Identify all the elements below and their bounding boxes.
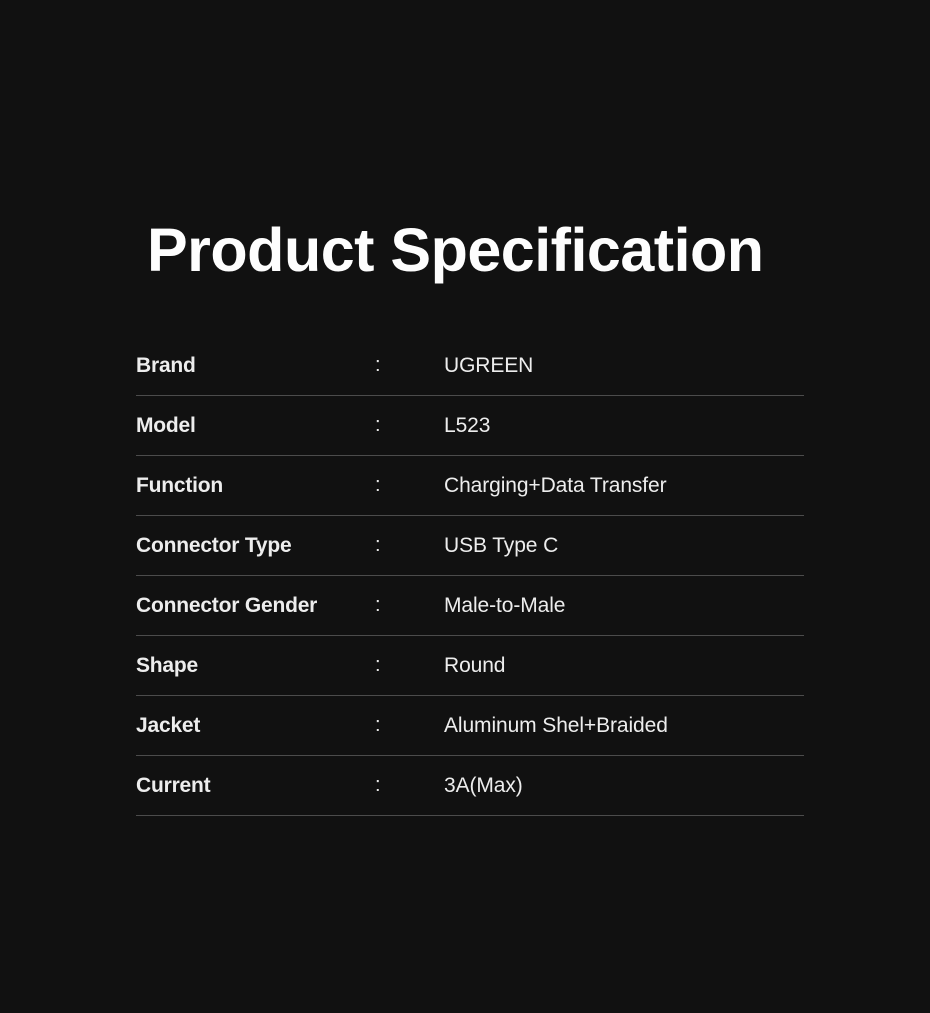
spec-value-jacket: Aluminum Shel+Braided	[444, 714, 804, 738]
table-row: Jacket : Aluminum Shel+Braided	[136, 696, 804, 756]
spec-separator: :	[375, 474, 444, 497]
spec-value-shape: Round	[444, 654, 804, 678]
spec-separator: :	[375, 354, 444, 377]
spec-separator: :	[375, 654, 444, 677]
spec-label-jacket: Jacket	[136, 714, 375, 738]
table-row: Brand : UGREEN	[136, 336, 804, 396]
spec-label-function: Function	[136, 474, 375, 498]
page-title: Product Specification	[147, 218, 764, 282]
spec-label-connector-gender: Connector Gender	[136, 594, 375, 618]
spec-separator: :	[375, 534, 444, 557]
spec-label-model: Model	[136, 414, 375, 438]
spec-label-brand: Brand	[136, 354, 375, 378]
table-row: Function : Charging+Data Transfer	[136, 456, 804, 516]
spec-value-current: 3A(Max)	[444, 774, 804, 798]
spec-value-connector-type: USB Type C	[444, 534, 804, 558]
spec-label-current: Current	[136, 774, 375, 798]
spec-separator: :	[375, 414, 444, 437]
specification-table: Brand : UGREEN Model : L523 Function : C…	[136, 336, 804, 816]
product-specification-page: Product Specification Brand : UGREEN Mod…	[0, 0, 930, 1013]
spec-separator: :	[375, 714, 444, 737]
spec-label-shape: Shape	[136, 654, 375, 678]
spec-value-model: L523	[444, 414, 804, 438]
spec-value-brand: UGREEN	[444, 354, 804, 378]
spec-separator: :	[375, 594, 444, 617]
table-row: Connector Gender : Male-to-Male	[136, 576, 804, 636]
table-row: Model : L523	[136, 396, 804, 456]
table-row: Connector Type : USB Type C	[136, 516, 804, 576]
spec-separator: :	[375, 774, 444, 797]
spec-label-connector-type: Connector Type	[136, 534, 375, 558]
spec-value-connector-gender: Male-to-Male	[444, 594, 804, 618]
spec-value-function: Charging+Data Transfer	[444, 474, 804, 498]
table-row: Shape : Round	[136, 636, 804, 696]
table-row: Current : 3A(Max)	[136, 756, 804, 816]
